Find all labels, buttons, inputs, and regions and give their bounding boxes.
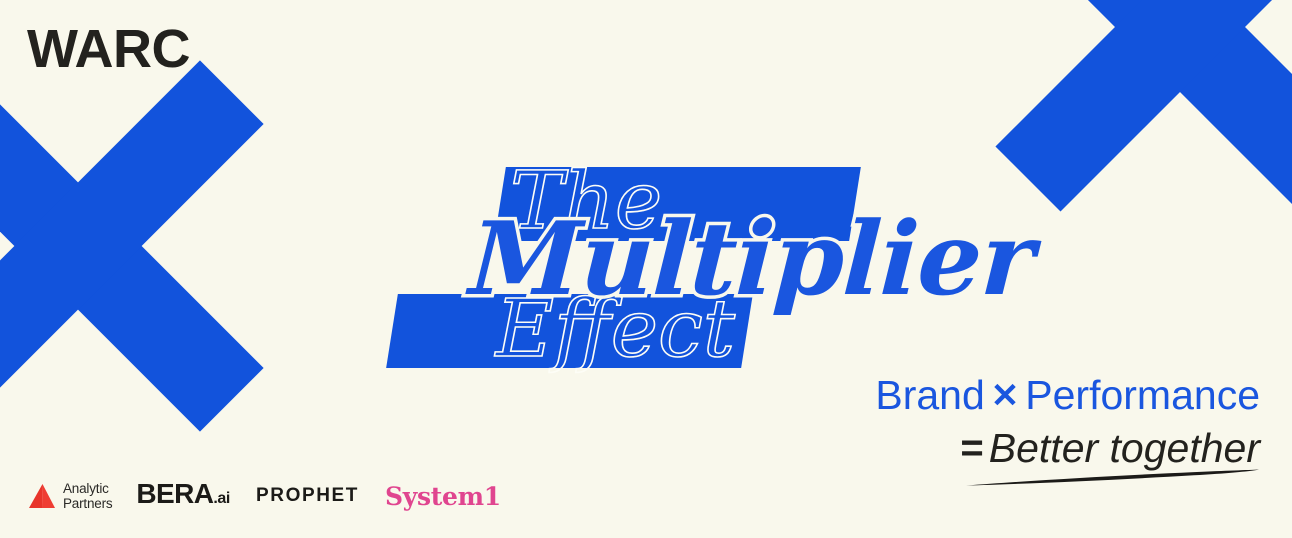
- x-cross-bar: [995, 0, 1292, 212]
- equals-icon: =: [960, 426, 988, 470]
- multiply-x-icon: ✕: [985, 377, 1026, 415]
- underline-swoosh-icon: [964, 468, 1260, 488]
- x-cross-icon: [0, 0, 388, 538]
- logo-bera-suffix: .ai: [213, 490, 230, 508]
- poster-canvas: WARC The Effect Multiplier Brand✕Perform…: [0, 0, 1292, 538]
- x-cross-bar: [0, 60, 264, 431]
- triangle-mark-icon: [28, 483, 56, 509]
- tagline-word-performance: Performance: [1025, 372, 1260, 418]
- logo-analytic-partners: Analytic Partners: [28, 478, 112, 514]
- tagline-phrase: Better together: [989, 425, 1260, 471]
- warc-logo: WARC: [27, 22, 190, 76]
- tagline-line-better-together: =Better together: [760, 425, 1260, 472]
- logo-bera-main: BERA: [136, 478, 213, 510]
- tagline-word-brand: Brand: [875, 372, 984, 418]
- partner-logo-strip: Analytic Partners BERA.ai PROPHET System…: [28, 478, 501, 514]
- tagline-line-brand-x-performance: Brand✕Performance: [760, 372, 1260, 419]
- logo-prophet-text: PROPHET: [256, 485, 359, 507]
- logo-bera-ai: BERA.ai: [136, 478, 230, 514]
- logo-system1-text: System1: [385, 482, 501, 511]
- logo-prophet: PROPHET: [256, 478, 359, 514]
- title-lockup: The Effect Multiplier: [370, 150, 910, 385]
- title-word-multiplier: Multiplier: [467, 208, 1036, 309]
- logo-system1: System1: [385, 478, 501, 514]
- logo-analytic-partners-text: Analytic Partners: [63, 481, 112, 511]
- x-cross-bar: [995, 0, 1292, 212]
- tagline-block: Brand✕Performance =Better together: [760, 372, 1260, 472]
- logo-analytic-partners-line2: Partners: [63, 496, 112, 511]
- x-cross-bar: [0, 60, 264, 431]
- logo-analytic-partners-line1: Analytic: [63, 481, 112, 496]
